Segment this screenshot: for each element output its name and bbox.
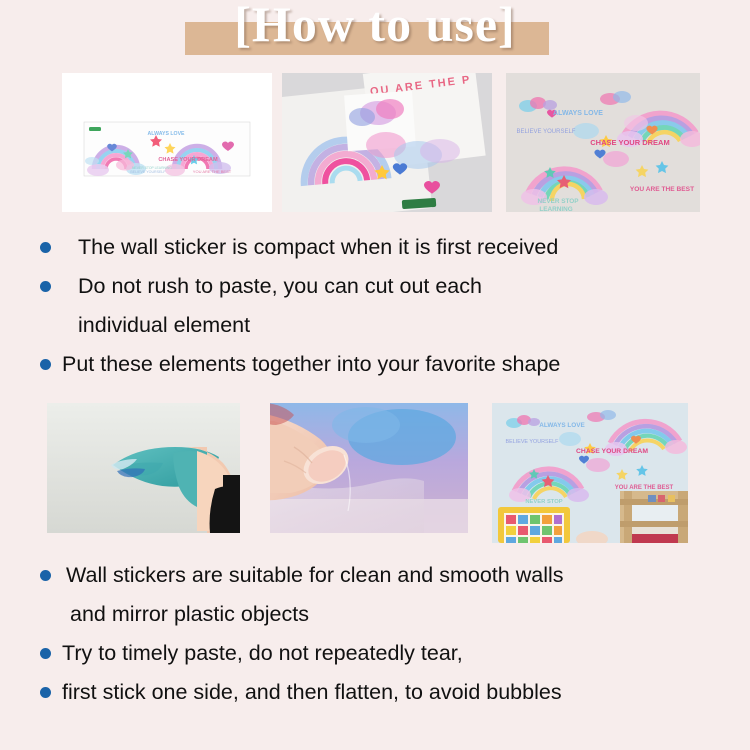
svg-text:CHASE YOUR DREAM: CHASE YOUR DREAM [158,157,218,163]
svg-text:YOU ARE THE BEST: YOU ARE THE BEST [630,186,694,193]
page-title-banner: [How to use] [0,0,750,62]
photo-peel-backing-film [270,403,468,533]
list-item: Put these elements together into your fa… [0,345,750,384]
list-item: first stick one side, and then flatten, … [0,673,750,712]
svg-text:ALWAYS LOVE: ALWAYS LOVE [148,131,186,137]
list-item: Wall stickers are suitable for clean and… [0,556,750,595]
list-item-label: Try to timely paste, do not repeatedly t… [62,634,463,673]
bullet-dot-icon [40,648,51,659]
list-item-label: individual element [78,306,250,345]
svg-text:ALWAYS LOVE: ALWAYS LOVE [553,110,603,117]
svg-text:BELIEVE YOURSELF: BELIEVE YOURSELF [130,170,166,174]
svg-text:NEVER STOP: NEVER STOP [525,499,562,505]
photo-arranged-on-wall: ALWAYS LOVE BELIEVE YOURSELF CHASE YOUR … [506,73,700,212]
list-item: Try to timely paste, do not repeatedly t… [0,634,750,673]
bullet-dot-icon [40,359,51,370]
photo-clean-wall-with-towel [47,403,240,533]
list-item-label: and mirror plastic objects [70,595,309,634]
photo-finished-kids-room: ALWAYS LOVE BELIEVE YOURSELF CHASE YOUR … [492,403,688,543]
bullet-dot-icon [40,281,51,292]
svg-text:CHASE YOUR DREAM: CHASE YOUR DREAM [576,448,648,455]
bullet-dot-icon [40,687,51,698]
list-item-label: first stick one side, and then flatten, … [62,673,562,712]
svg-text:YOU ARE THE BEST: YOU ARE THE BEST [193,169,232,174]
photo-cut-out-elements: OU ARE THE P [282,73,492,212]
svg-text:NEVER STOP LEARNING: NEVER STOP LEARNING [132,166,172,170]
svg-text:LEARNING: LEARNING [539,206,572,212]
list-item-label: Wall stickers are suitable for clean and… [66,556,564,595]
list-item-label: Do not rush to paste, you can cut out ea… [78,267,482,306]
svg-text:ALWAYS LOVE: ALWAYS LOVE [539,422,585,429]
bullet-dot-icon [40,570,51,581]
svg-text:BELIEVE YOURSELF: BELIEVE YOURSELF [506,439,560,445]
list-item: Do not rush to paste, you can cut out ea… [0,267,750,306]
svg-text:YOU ARE THE BEST: YOU ARE THE BEST [615,485,674,491]
list-item-continuation: and mirror plastic objects [0,595,750,634]
list-item-label: The wall sticker is compact when it is f… [78,228,558,267]
instructions-list-top: The wall sticker is compact when it is f… [0,228,750,384]
page-title: [How to use] [0,0,750,52]
bullet-dot-icon [40,242,51,253]
list-item-label: Put these elements together into your fa… [62,345,560,384]
svg-text:BELIEVE YOURSELF: BELIEVE YOURSELF [517,129,576,135]
photo-sticker-sheet-flat: ALWAYS LOVE CHASE YOUR DREAM BELIEVE YOU… [62,73,272,212]
list-item-continuation: individual element [0,306,750,345]
list-item: The wall sticker is compact when it is f… [0,228,750,267]
svg-text:NEVER STOP: NEVER STOP [537,198,579,205]
svg-text:CHASE YOUR DREAM: CHASE YOUR DREAM [590,138,669,147]
instructions-list-bottom: Wall stickers are suitable for clean and… [0,556,750,712]
